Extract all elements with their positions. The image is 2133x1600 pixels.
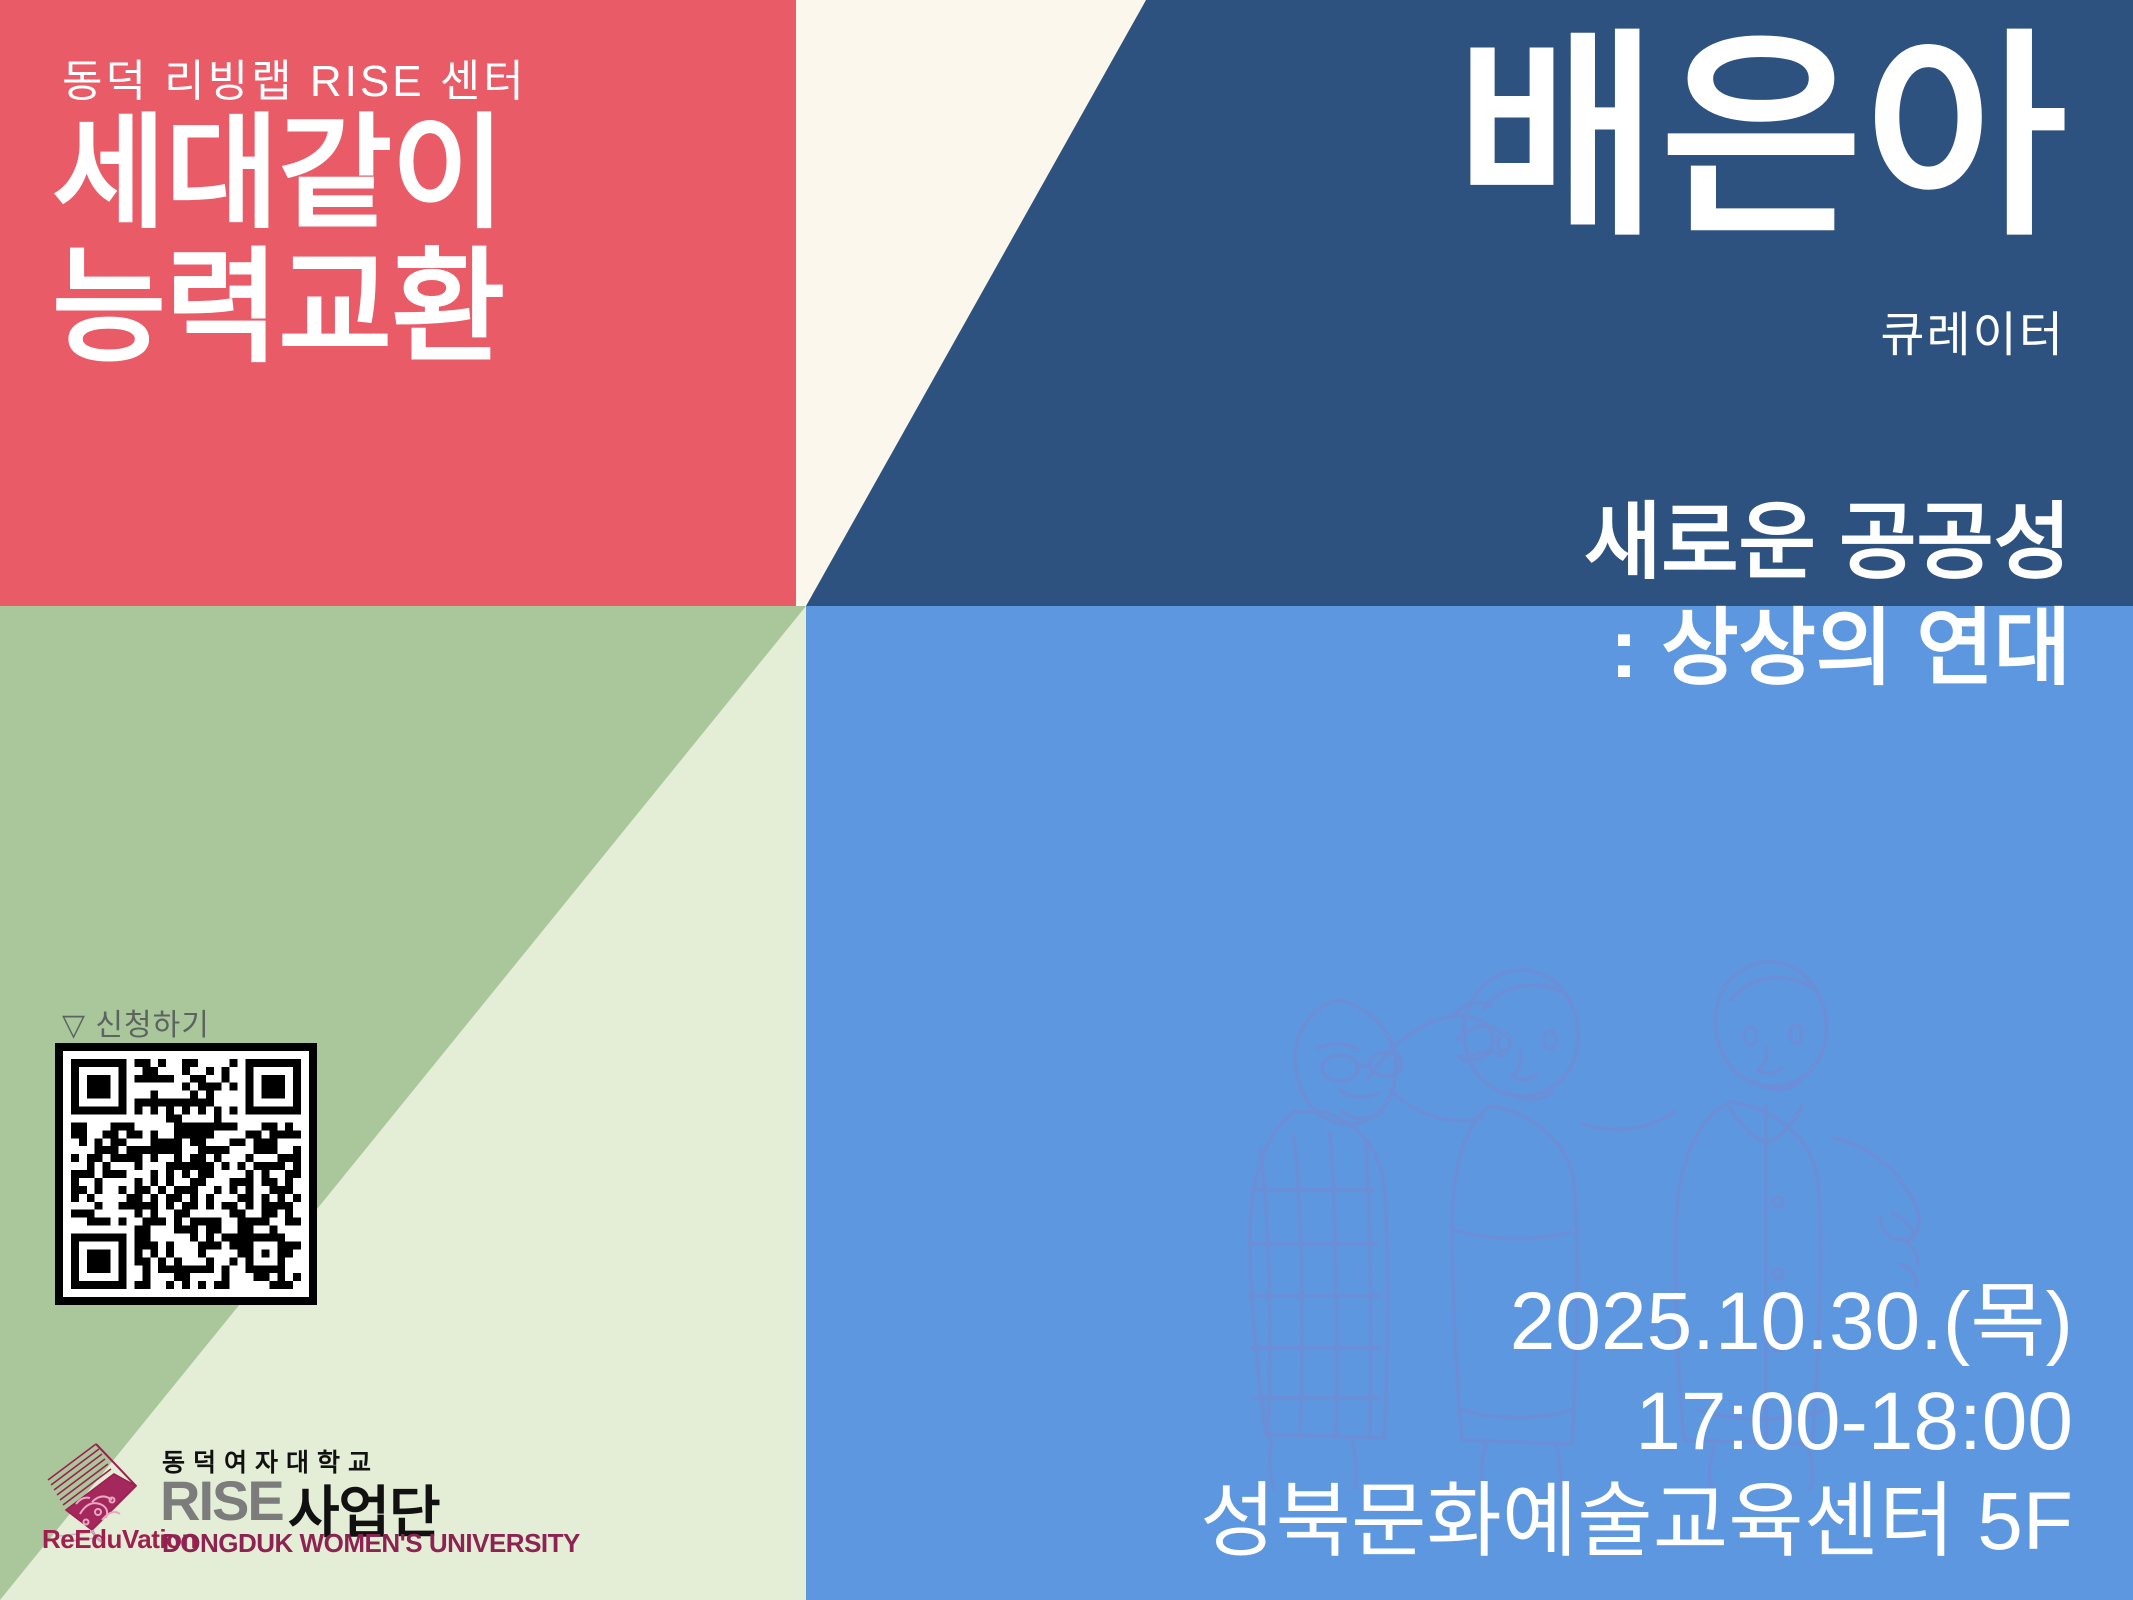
event-poster: 동덕 리빙랩 RISE 센터 세대같이 능력교환 배은아 큐레이터 (0, 0, 2133, 1600)
rise-program-logo: ReEduVation 동덕여자대학교 RISE 사업단 DONGDUK WOM… (40, 1440, 440, 1565)
lecture-title: 새로운 공공성 : 상상의 연대 (1584, 490, 2071, 702)
program-headline: 세대같이 능력교환 (52, 108, 504, 376)
program-kicker: 동덕 리빙랩 RISE 센터 (62, 45, 527, 109)
speaker-name: 배은아 (1456, 28, 2069, 248)
apply-label: ▽ 신청하기 (62, 1000, 210, 1044)
event-details: 2025.10.30.(목) 17:00-18:00 성북문화예술교육센터 5F (1200, 1272, 2073, 1572)
speaker-role: 큐레이터 (1880, 295, 2065, 365)
logo-rise-text: RISE (160, 1468, 283, 1533)
qr-code[interactable] (55, 1043, 317, 1305)
logo-university-en: DONGDUK WOMEN'S UNIVERSITY (162, 1528, 580, 1559)
qr-code-canvas[interactable] (55, 1043, 317, 1305)
